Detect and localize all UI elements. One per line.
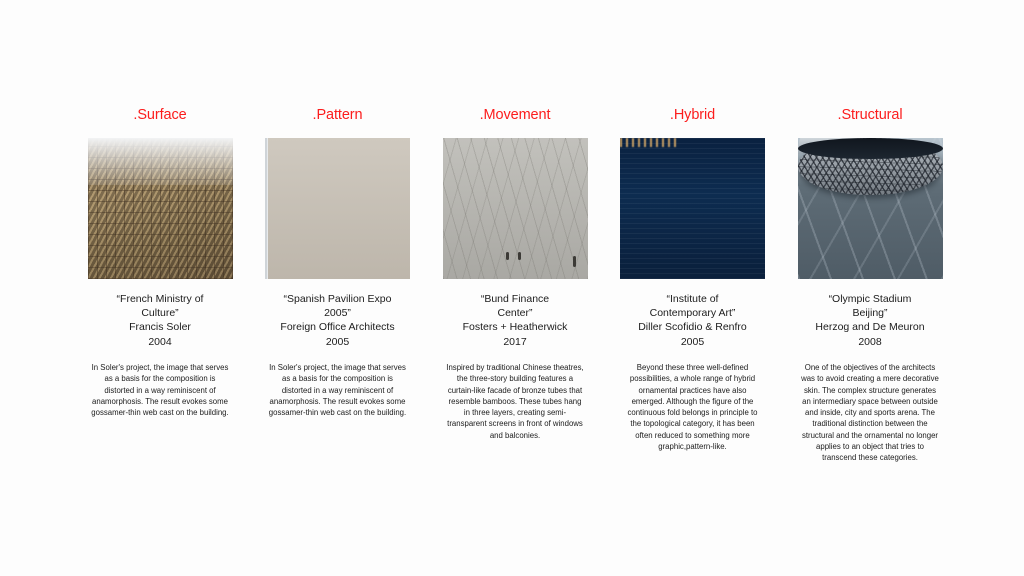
- column-movement: .Movement “Bund Finance Center” Fosters …: [440, 108, 590, 441]
- column-pattern: .Pattern “Spanish Pavilion Expo 2005” Fo…: [263, 108, 413, 418]
- column-hybrid: .Hybrid ICA “Institute of Contemporary A…: [618, 108, 768, 452]
- photo-pedestrian-icon: [506, 252, 509, 260]
- category-columns: .Surface “French Ministry of Culture” Fr…: [85, 108, 945, 464]
- photo-description: Beyond these three well-defined possibil…: [623, 362, 763, 452]
- photo-highlight-layer: [88, 138, 233, 186]
- photo-description: One of the objectives of the architects …: [800, 362, 940, 464]
- french-ministry-of-culture-photo: [88, 138, 233, 279]
- institute-of-contemporary-art-photo: ICA: [620, 138, 765, 279]
- column-heading-label: Pattern: [316, 107, 362, 123]
- photo-water-reflection: [620, 138, 678, 148]
- photo-harbor-water: [620, 138, 765, 279]
- column-heading-label: Surface: [137, 107, 186, 123]
- bund-finance-center-photo: [443, 138, 588, 279]
- column-heading-label: Hybrid: [674, 107, 715, 123]
- olympic-stadium-beijing-photo: [798, 138, 943, 279]
- spanish-pavilion-expo-photo: [265, 138, 410, 279]
- column-heading-pattern: .Pattern: [313, 108, 363, 123]
- presentation-slide: .Surface “French Ministry of Culture” Fr…: [0, 0, 1024, 576]
- photo-pedestrian-icon: [573, 256, 576, 267]
- photo-description: In Soler's project, the image that serve…: [90, 362, 230, 418]
- photo-plaza-layer: [443, 138, 588, 279]
- column-heading-surface: .Surface: [133, 108, 186, 123]
- column-heading-structural: .Structural: [838, 108, 903, 123]
- photo-pole-icon: [265, 138, 267, 279]
- column-heading-hybrid: .Hybrid: [670, 108, 715, 123]
- column-heading-label: Structural: [841, 107, 902, 123]
- photo-description: Inspired by traditional Chinese theatres…: [445, 362, 585, 441]
- column-heading-movement: .Movement: [480, 108, 551, 123]
- photo-caption: “Spanish Pavilion Expo 2005” Foreign Off…: [262, 292, 414, 350]
- photo-pedestrian-icon: [518, 252, 521, 260]
- photo-description: In Soler's project, the image that serve…: [268, 362, 408, 418]
- photo-caption: “Olympic Stadium Beijing” Herzog and De …: [794, 292, 946, 350]
- photo-stadium-opening: [798, 138, 943, 159]
- photo-caption: “French Ministry of Culture” Francis Sol…: [84, 292, 236, 350]
- column-structural: .Structural “Olympic Stadium Beijing” He…: [795, 108, 945, 464]
- photo-caption: “Institute of Contemporary Art” Diller S…: [617, 292, 769, 350]
- photo-ground-layer: [265, 138, 410, 279]
- column-surface: .Surface “French Ministry of Culture” Fr…: [85, 108, 235, 418]
- photo-caption: “Bund Finance Center” Fosters + Heatherw…: [439, 292, 591, 350]
- column-heading-label: Movement: [484, 107, 551, 123]
